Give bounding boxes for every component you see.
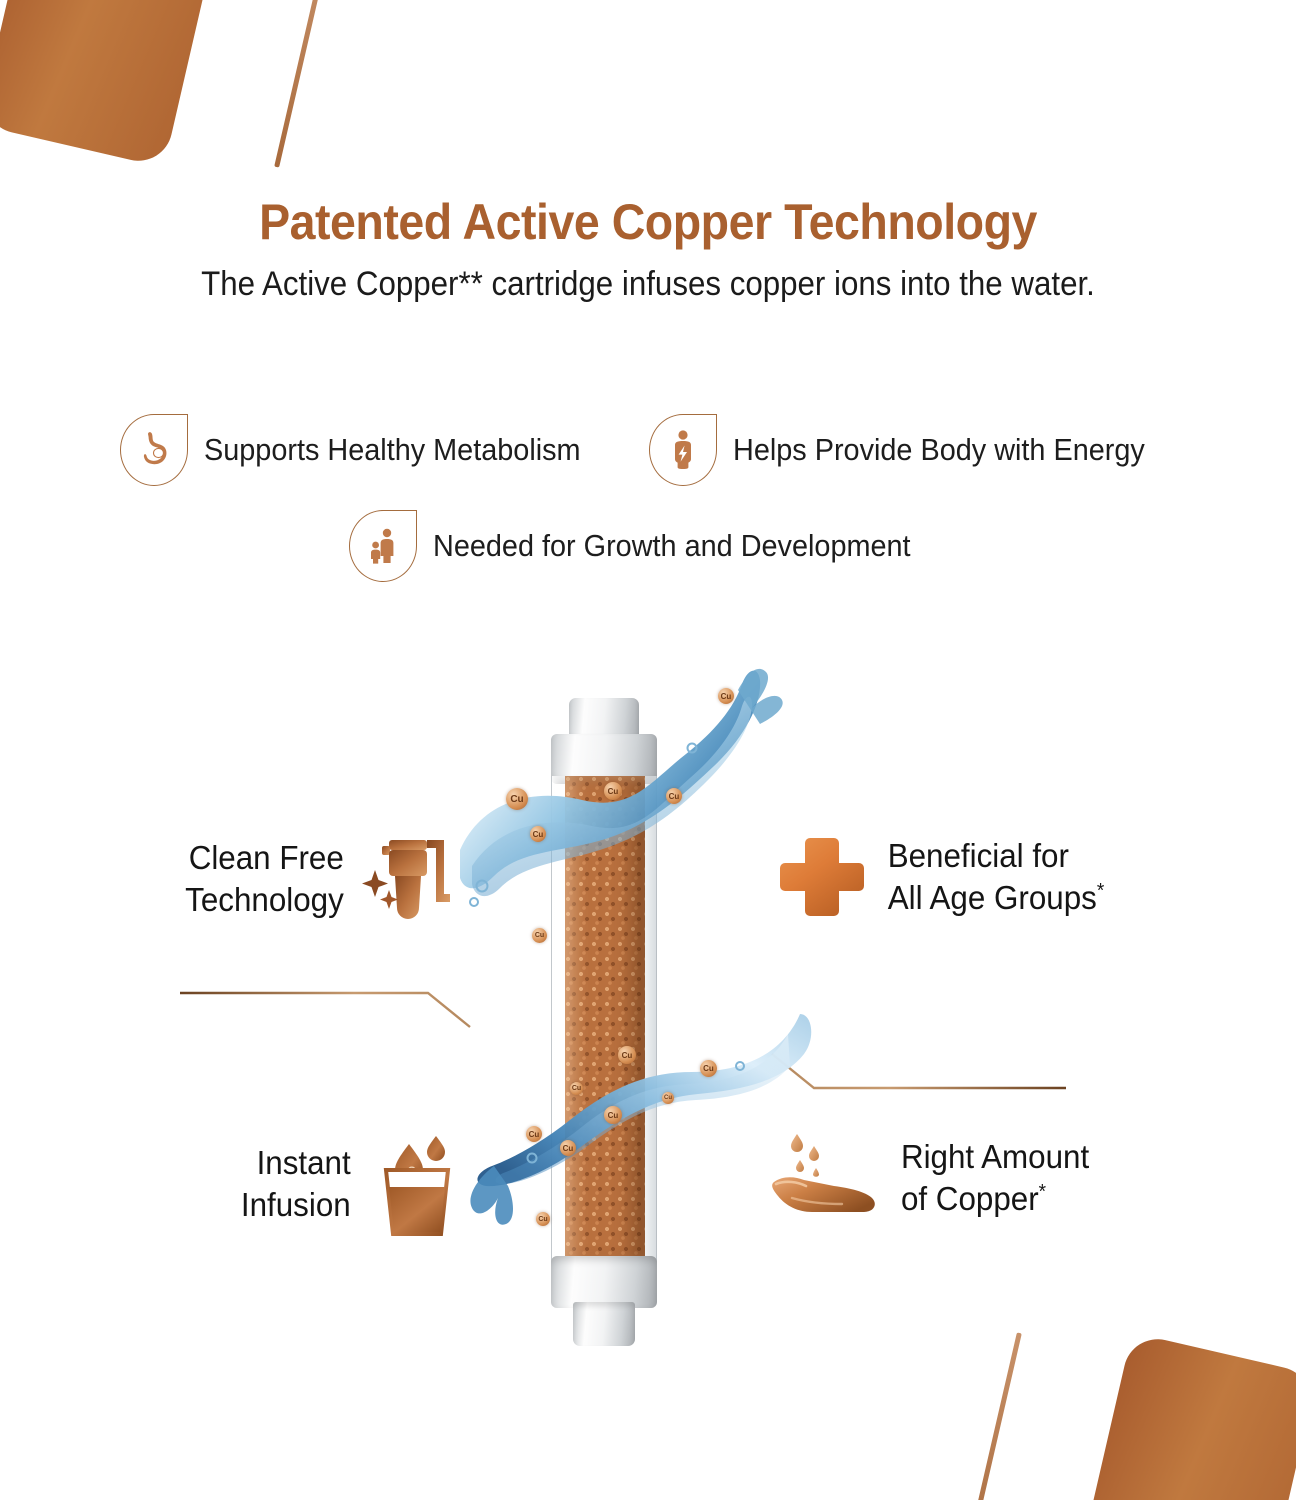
water-purifier-sparkle-icon — [362, 832, 458, 926]
benefit-helps-provide-body-with-energy: Helps Provide Body with Energy — [649, 414, 1176, 486]
copper-ion-bubble: Cu — [604, 782, 622, 800]
copper-ion-bubble: Cu — [570, 1082, 583, 1095]
copper-ion-bubble: Cu — [618, 1046, 636, 1064]
decor-top-left-line — [274, 0, 331, 168]
cartridge-transparent-tube — [551, 776, 657, 1266]
heading-block: Patented Active Copper Technology The Ac… — [0, 196, 1296, 303]
cartridge-bottom-collar — [551, 1256, 657, 1308]
copper-ion-bubble: Cu — [532, 928, 547, 943]
benefit-label: Supports Healthy Metabolism — [204, 432, 581, 468]
stomach-icon — [120, 414, 188, 486]
decor-bottom-right-bar — [1065, 1332, 1296, 1500]
copper-ion-bubble: Cu — [662, 1092, 674, 1104]
plus-cross-icon — [776, 832, 868, 922]
copper-ion-bubble: Cu — [536, 1212, 550, 1226]
infographic-page: Patented Active Copper Technology The Ac… — [0, 0, 1296, 1500]
feature-superscript: * — [1039, 1181, 1046, 1203]
benefits-row-secondary: Needed for Growth and Development — [0, 510, 1296, 582]
copper-ion-bubble: Cu — [700, 1060, 717, 1077]
feature-label-line2: All Age Groups — [888, 879, 1097, 916]
page-title: Patented Active Copper Technology — [45, 196, 1250, 249]
copper-ion-bubble: Cu — [604, 1106, 622, 1124]
feature-label: Instant Infusion — [241, 1142, 351, 1226]
body-energy-icon — [649, 414, 717, 486]
feature-superscript: * — [1097, 880, 1104, 902]
feature-instant-infusion: Instant Infusion Cu — [170, 1130, 460, 1238]
feature-label: Right Amount of Copper* — [901, 1136, 1089, 1220]
feature-label-line2: of Copper — [901, 1180, 1039, 1217]
copper-ion-bubble: Cu — [530, 826, 546, 842]
benefit-label: Helps Provide Body with Energy — [733, 432, 1145, 468]
benefit-label: Needed for Growth and Development — [433, 528, 911, 564]
feature-label: Clean Free Technology — [185, 837, 344, 921]
feature-right-amount-of-copper: Right Amount of Copper* — [772, 1128, 1202, 1228]
copper-ion-bubble: Cu — [560, 1140, 576, 1156]
decor-top-left-bar — [0, 0, 231, 168]
benefit-supports-healthy-metabolism: Supports Healthy Metabolism — [120, 414, 609, 486]
feature-clean-free-technology: Clean Free Technology — [138, 832, 458, 926]
benefits-row-primary: Supports Healthy Metabolism Helps Provid… — [0, 414, 1296, 486]
copper-ion-bubble: Cu — [718, 688, 734, 704]
benefit-needed-for-growth-and-development: Needed for Growth and Development — [349, 510, 947, 582]
feature-label: Beneficial for All Age Groups* — [888, 835, 1105, 919]
copper-ion-bubble: Cu — [666, 788, 682, 804]
cartridge-bottom-nozzle — [573, 1302, 635, 1346]
copper-ion-bubble: Cu — [526, 1126, 542, 1142]
glass-copper-drop-icon: Cu — [368, 1130, 460, 1238]
copper-granules — [565, 776, 645, 1266]
feature-beneficial-all-age-groups: Beneficial for All Age Groups* — [776, 832, 1206, 922]
decor-bottom-right-line — [965, 1332, 1022, 1500]
growth-icon — [349, 510, 417, 582]
page-subtitle: The Active Copper** cartridge infuses co… — [52, 266, 1244, 303]
copper-ion-bubble: Cu — [506, 788, 528, 810]
hand-drops-icon — [772, 1128, 882, 1228]
